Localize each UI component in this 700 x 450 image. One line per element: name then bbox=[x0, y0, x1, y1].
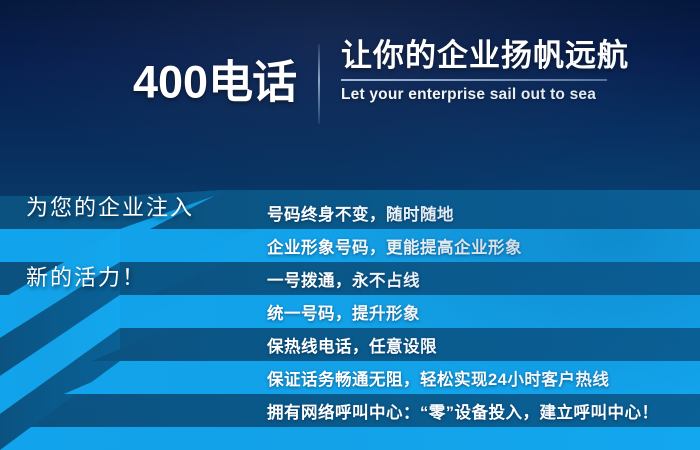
left-headline-line1: 为您的企业注入 bbox=[26, 190, 206, 222]
slogan-rule bbox=[341, 79, 607, 81]
left-headline-line2: 新的活力！ bbox=[26, 260, 206, 292]
banner-header: 400电话 让你的企业扬帆远航 Let your enterprise sail… bbox=[0, 38, 700, 134]
feature-label: 统一号码，提升形象 bbox=[267, 300, 420, 324]
left-headline: 为您的企业注入 新的活力！ bbox=[26, 190, 206, 292]
brand-word: 电话 bbox=[208, 57, 296, 108]
feature-label: 保证话务畅通无阻，轻松实现24小时客户热线 bbox=[267, 366, 609, 390]
promo-banner: 400电话 让你的企业扬帆远航 Let your enterprise sail… bbox=[0, 0, 700, 450]
brand-logo: 400电话 bbox=[133, 60, 296, 105]
feature-label: 企业形象号码，更能提高企业形象 bbox=[267, 234, 522, 258]
feature-label: 拥有网络呼叫中心：“零”设备投入，建立呼叫中心！ bbox=[267, 399, 659, 423]
feature-row: 保证话务畅通无阻，轻松实现24小时客户热线 bbox=[0, 361, 700, 394]
header-divider bbox=[318, 44, 320, 124]
feature-row: 统一号码，提升形象 bbox=[0, 295, 700, 328]
slogan-chinese: 让你的企业扬帆远航 bbox=[341, 38, 641, 75]
feature-row: 保热线电话，任意设限 bbox=[0, 328, 700, 361]
brand-number: 400 bbox=[133, 57, 208, 108]
slogan-english: Let your enterprise sail out to sea bbox=[341, 86, 641, 104]
slogan-block: 让你的企业扬帆远航 Let your enterprise sail out t… bbox=[341, 38, 641, 104]
feature-label: 一号拨通，永不占线 bbox=[267, 267, 420, 291]
feature-label: 保热线电话，任意设限 bbox=[267, 333, 437, 357]
feature-label: 号码终身不变，随时随地 bbox=[267, 201, 454, 225]
feature-row: 拥有网络呼叫中心：“零”设备投入，建立呼叫中心！ bbox=[0, 394, 700, 427]
